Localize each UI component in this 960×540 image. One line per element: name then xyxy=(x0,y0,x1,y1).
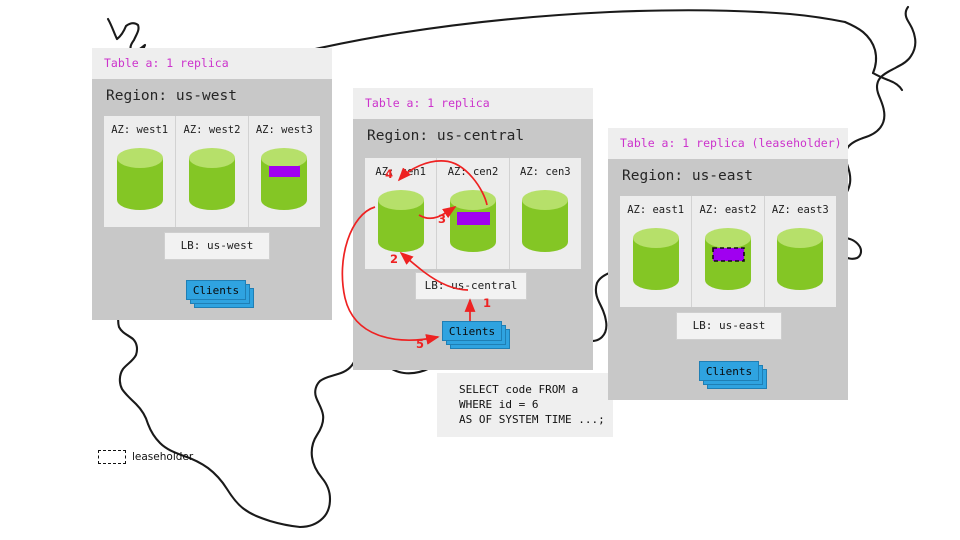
region-title-us-west: Region: us-west xyxy=(92,79,332,113)
legend-label: leaseholder xyxy=(132,451,193,463)
az-label-west1: AZ: west1 xyxy=(111,124,168,136)
sql-query-box: SELECT code FROM a WHERE id = 6 AS OF SY… xyxy=(437,373,613,437)
legend: leaseholder xyxy=(98,450,193,464)
az-cell-east2[interactable]: AZ: east2 xyxy=(692,196,764,307)
node-cylinder-west1[interactable] xyxy=(114,144,166,216)
arrow-number-4: 4 xyxy=(385,167,393,181)
az-cell-west2[interactable]: AZ: west2 xyxy=(176,116,248,227)
load-balancer-us-west[interactable]: LB: us-west xyxy=(164,232,270,260)
node-cylinder-west2[interactable] xyxy=(186,144,238,216)
clients-label-us-west[interactable]: Clients xyxy=(186,280,246,300)
az-cell-cen2[interactable]: AZ: cen2 xyxy=(437,158,509,269)
az-label-cen1: AZ: cen1 xyxy=(375,166,426,178)
az-label-east1: AZ: east1 xyxy=(627,204,684,216)
az-label-cen2: AZ: cen2 xyxy=(448,166,499,178)
az-label-west2: AZ: west2 xyxy=(184,124,241,136)
az-cell-east3[interactable]: AZ: east3 xyxy=(765,196,836,307)
arrow-number-3: 3 xyxy=(438,212,446,226)
az-cell-west1[interactable]: AZ: west1 xyxy=(104,116,176,227)
region-title-us-east: Region: us-east xyxy=(608,159,848,193)
load-balancer-us-east[interactable]: LB: us-east xyxy=(676,312,782,340)
clients-us-east[interactable]: Clients xyxy=(699,361,769,391)
load-balancer-us-central[interactable]: LB: us-central xyxy=(415,272,527,300)
az-container-us-west: AZ: west1 AZ: west2 AZ: west3 xyxy=(104,116,320,227)
az-container-us-east: AZ: east1 AZ: east2 AZ: east3 xyxy=(620,196,836,307)
node-cylinder-east2[interactable] xyxy=(702,224,754,296)
table-replica-banner-us-central: Table a: 1 replica xyxy=(353,88,593,119)
node-cylinder-cen3[interactable] xyxy=(519,186,571,258)
node-cylinder-cen2[interactable] xyxy=(447,186,499,258)
node-cylinder-west3[interactable] xyxy=(258,144,310,216)
node-cylinder-cen1[interactable] xyxy=(375,186,427,258)
az-label-cen3: AZ: cen3 xyxy=(520,166,571,178)
table-replica-banner-us-west: Table a: 1 replica xyxy=(92,48,332,79)
az-cell-east1[interactable]: AZ: east1 xyxy=(620,196,692,307)
clients-us-central[interactable]: Clients xyxy=(442,321,512,351)
table-replica-banner-us-east: Table a: 1 replica (leaseholder) xyxy=(608,128,848,159)
clients-label-us-east[interactable]: Clients xyxy=(699,361,759,381)
dashed-rect-icon xyxy=(98,450,126,464)
arrow-number-1: 1 xyxy=(483,296,491,310)
replica-block-west3 xyxy=(269,166,300,177)
replica-block-cen2 xyxy=(457,212,490,225)
node-cylinder-east1[interactable] xyxy=(630,224,682,296)
clients-label-us-central[interactable]: Clients xyxy=(442,321,502,341)
az-cell-cen1[interactable]: AZ: cen1 xyxy=(365,158,437,269)
replica-block-east2-leaseholder xyxy=(713,248,744,261)
az-label-east3: AZ: east3 xyxy=(772,204,829,216)
arrow-number-2: 2 xyxy=(390,252,398,266)
node-cylinder-east3[interactable] xyxy=(774,224,826,296)
az-label-east2: AZ: east2 xyxy=(700,204,757,216)
az-label-west3: AZ: west3 xyxy=(256,124,313,136)
diagram-canvas: Table a: 1 replica Region: us-west AZ: w… xyxy=(0,0,960,540)
region-title-us-central: Region: us-central xyxy=(353,119,593,153)
arrow-number-5: 5 xyxy=(416,337,424,351)
az-cell-cen3[interactable]: AZ: cen3 xyxy=(510,158,581,269)
clients-us-west[interactable]: Clients xyxy=(186,280,256,310)
az-cell-west3[interactable]: AZ: west3 xyxy=(249,116,320,227)
